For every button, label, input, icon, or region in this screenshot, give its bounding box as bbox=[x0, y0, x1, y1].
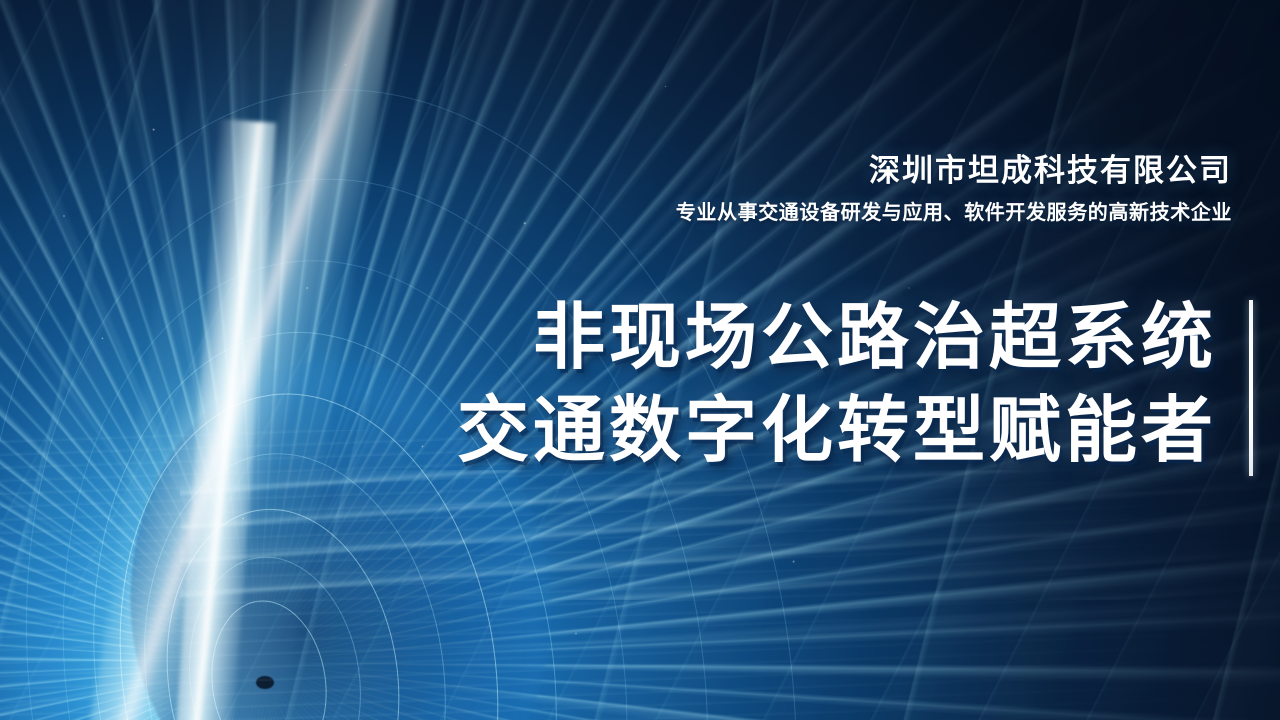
vertical-accent-bar bbox=[1249, 300, 1253, 476]
title-slide: 深圳市坦成科技有限公司 专业从事交通设备研发与应用、软件开发服务的高新技术企业 … bbox=[0, 0, 1280, 720]
headline-block: 非现场公路治超系统 交通数字化转型赋能者 bbox=[457, 292, 1217, 478]
company-identity-block: 深圳市坦成科技有限公司 专业从事交通设备研发与应用、软件开发服务的高新技术企业 bbox=[472, 152, 1232, 226]
headline-line-2: 交通数字化转型赋能者 bbox=[457, 385, 1217, 478]
company-tagline: 专业从事交通设备研发与应用、软件开发服务的高新技术企业 bbox=[472, 201, 1232, 226]
headline-line-1: 非现场公路治超系统 bbox=[457, 292, 1217, 385]
company-name: 深圳市坦成科技有限公司 bbox=[472, 152, 1232, 189]
